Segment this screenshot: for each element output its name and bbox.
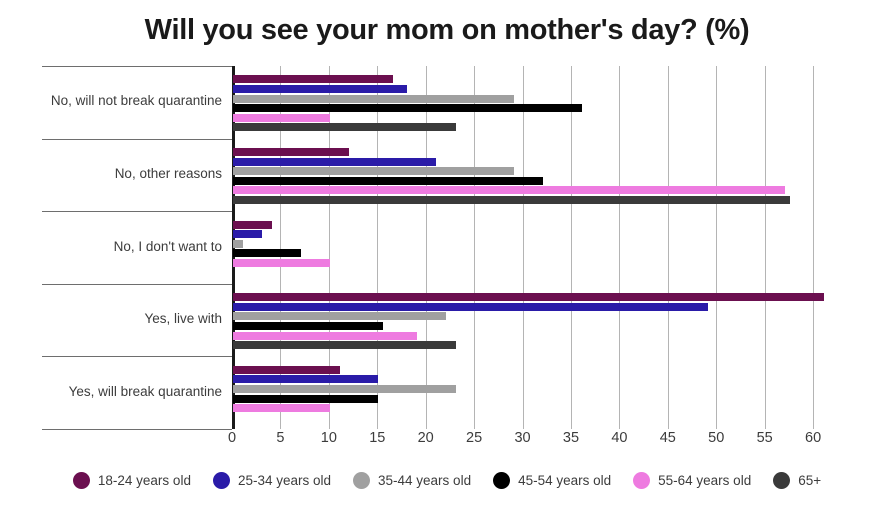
y-axis-label: Yes, will break quarantine: [0, 384, 222, 399]
bar: [233, 240, 243, 248]
legend-label: 65+: [798, 473, 821, 488]
bar: [233, 385, 456, 393]
bar: [233, 158, 436, 166]
bar: [233, 221, 272, 229]
bar: [233, 375, 378, 383]
x-tick-label: 15: [362, 430, 392, 446]
bar: [233, 366, 340, 374]
category-separator: [42, 284, 232, 285]
chart-root: Will you see your mom on mother's day? (…: [0, 0, 894, 517]
bar: [233, 123, 456, 131]
gridline: [716, 66, 717, 429]
gridline: [426, 66, 427, 429]
legend-item[interactable]: 25-34 years old: [213, 472, 331, 489]
bar: [233, 177, 543, 185]
x-tick-label: 30: [508, 430, 538, 446]
x-tick-label: 40: [604, 430, 634, 446]
category-separator: [42, 139, 232, 140]
bar: [233, 312, 446, 320]
y-axis-label: No, other reasons: [0, 166, 222, 181]
bar: [233, 75, 393, 83]
bar: [233, 341, 456, 349]
gridline: [474, 66, 475, 429]
bar: [233, 259, 330, 267]
legend-label: 55-64 years old: [658, 473, 751, 488]
y-axis-label: No, will not break quarantine: [0, 93, 222, 108]
bar: [233, 104, 582, 112]
legend-swatch-icon: [213, 472, 230, 489]
y-axis-label: Yes, live with: [0, 311, 222, 326]
legend-swatch-icon: [633, 472, 650, 489]
x-tick-label: 20: [411, 430, 441, 446]
legend-swatch-icon: [773, 472, 790, 489]
chart-legend: 18-24 years old25-34 years old35-44 year…: [0, 472, 894, 489]
bar: [233, 186, 785, 194]
x-tick-label: 0: [217, 430, 247, 446]
x-tick-label: 5: [265, 430, 295, 446]
category-separator: [42, 66, 232, 67]
x-tick-label: 45: [653, 430, 683, 446]
bar: [233, 395, 378, 403]
gridline: [571, 66, 572, 429]
bar: [233, 114, 330, 122]
bar: [233, 293, 824, 301]
x-tick-label: 50: [701, 430, 731, 446]
category-separator: [42, 211, 232, 212]
x-tick-label: 55: [750, 430, 780, 446]
x-tick-label: 60: [798, 430, 828, 446]
legend-item[interactable]: 45-54 years old: [493, 472, 611, 489]
bar: [233, 322, 383, 330]
category-separator: [42, 356, 232, 357]
y-axis-label: No, I don't want to: [0, 239, 222, 254]
bar: [233, 332, 417, 340]
legend-swatch-icon: [73, 472, 90, 489]
x-tick-label: 10: [314, 430, 344, 446]
legend-label: 35-44 years old: [378, 473, 471, 488]
bar: [233, 85, 407, 93]
bar: [233, 95, 514, 103]
legend-swatch-icon: [493, 472, 510, 489]
legend-swatch-icon: [353, 472, 370, 489]
legend-item[interactable]: 35-44 years old: [353, 472, 471, 489]
legend-item[interactable]: 55-64 years old: [633, 472, 751, 489]
bar: [233, 148, 349, 156]
legend-label: 18-24 years old: [98, 473, 191, 488]
bar: [233, 167, 514, 175]
gridline: [523, 66, 524, 429]
gridline: [765, 66, 766, 429]
x-tick-label: 25: [459, 430, 489, 446]
gridline: [668, 66, 669, 429]
legend-item[interactable]: 18-24 years old: [73, 472, 191, 489]
bar: [233, 249, 301, 257]
category-separator: [42, 429, 232, 430]
bar: [233, 230, 262, 238]
legend-item[interactable]: 65+: [773, 472, 821, 489]
gridline: [813, 66, 814, 429]
legend-label: 45-54 years old: [518, 473, 611, 488]
chart-title: Will you see your mom on mother's day? (…: [0, 14, 894, 47]
legend-label: 25-34 years old: [238, 473, 331, 488]
bar: [233, 404, 330, 412]
bar: [233, 196, 790, 204]
x-tick-label: 35: [556, 430, 586, 446]
gridline: [619, 66, 620, 429]
bar: [233, 303, 708, 311]
